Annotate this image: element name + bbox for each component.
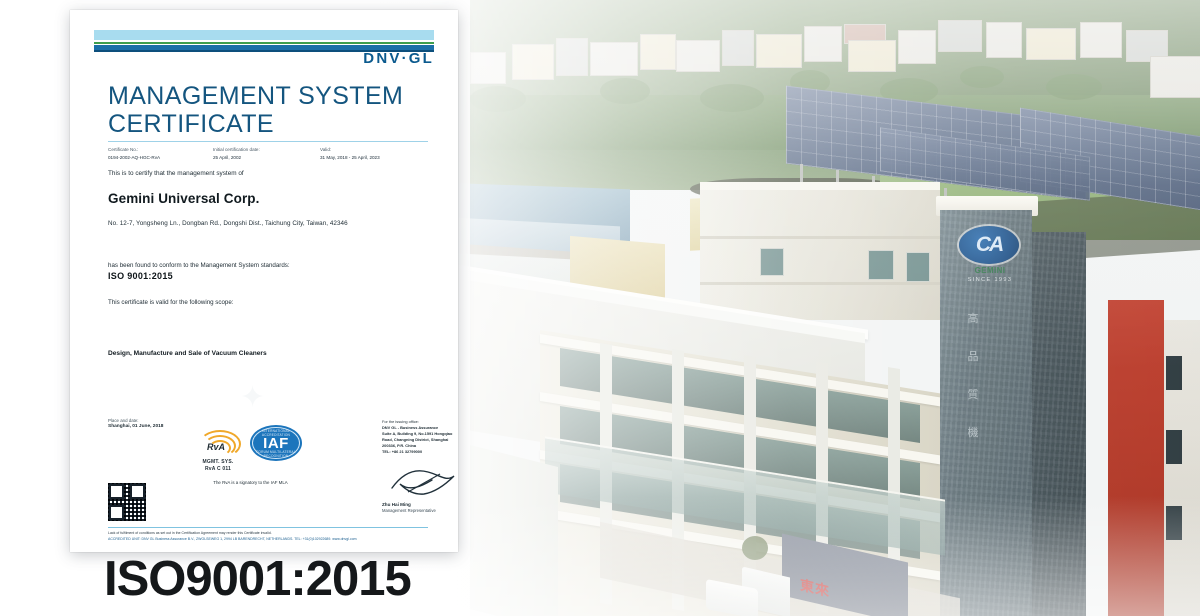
title-rule [108,141,428,142]
certificate-document[interactable]: DNV·GL MANAGEMENT SYSTEM CERTIFICATE Cer… [70,10,458,552]
footer-rule [108,527,428,528]
meta-valid: Valid: 31 May, 2018 - 25 April, 2023 [320,146,380,162]
rva-text-line2: RvA C 011 [188,466,248,472]
meta-value: 0194-2002-AQ-HGC-RvA [108,154,160,162]
screenshot-stage: CA GEMINI SINCE 1993 高 品 質 機 [0,0,1200,616]
place-date-label: Place and date: [108,418,139,423]
meta-certificate-no: Certificate No.: 0194-2002-AQ-HGC-RvA [108,146,160,162]
signatory-role: Management Representative [382,508,436,513]
header-band-light [94,30,434,40]
certificate-title: MANAGEMENT SYSTEM CERTIFICATE [108,82,438,138]
page-caption: ISO9001:2015 [104,551,411,607]
rva-accreditation-mark: RvA MGMT. SYS. RvA C 011 [188,428,248,473]
scope-lead-text: This certificate is valid for the follow… [108,299,234,306]
standard-name: ISO 9001:2015 [108,271,173,281]
meta-label: Certificate No.: [108,146,160,154]
meta-label: Valid: [320,146,380,154]
header-band-green [94,42,434,44]
certificate-title-line2: CERTIFICATE [108,110,438,138]
watermark: ✦ [240,380,265,415]
iaf-mla-note: The RvA is a signatory to the IAF MLA [188,480,313,485]
conformance-text: has been found to conform to the Managem… [108,262,290,269]
issuing-office-tel: TEL: +86 21 32799000 [382,449,422,454]
certify-lead-text: This is to certify that the management s… [108,170,244,177]
meta-value: 25 April, 2002 [213,154,260,162]
signature-icon [388,462,458,502]
place-date-value: Shanghai, 01 June, 2018 [108,424,163,429]
dnv-gl-logo: DNV·GL [363,50,434,67]
rva-text-line1: MGMT. SYS. [188,459,248,465]
company-name: Gemini Universal Corp. [108,191,260,206]
signatory-name: Zhu Hai Ming [382,502,411,507]
meta-label: Initial certification date: [213,146,260,154]
issuing-office-address1: Suite A, Building 9, No.1591 Hongqiao [382,431,452,436]
footer-disclaimer: Lack of fulfilment of conditions as set … [108,531,272,535]
scope-text: Design, Manufacture and Sale of Vacuum C… [108,350,267,357]
issuing-office-address2: Road, Changning District, Shanghai [382,437,448,442]
iaf-bottom-text: FORUM MULTILATERAL RECOGNITION [250,450,302,458]
iaf-logo: INTERNATIONAL ACCREDITATION IAF FORUM MU… [250,425,302,461]
meta-value: 31 May, 2018 - 25 April, 2023 [320,154,380,162]
issuing-office-address3: 200336, P.R. China [382,443,416,448]
rva-logo-icon: RvA [195,428,241,458]
company-address: No. 12-7, Yongsheng Ln., Dongban Rd., Do… [108,220,348,227]
certificate-inner: DNV·GL MANAGEMENT SYSTEM CERTIFICATE Cer… [70,10,458,552]
footer-accredited-unit: ACCREDITED UNIT: DNV GL Business Assuran… [108,537,357,541]
qr-code[interactable] [108,483,146,521]
iaf-oval-icon: INTERNATIONAL ACCREDITATION IAF FORUM MU… [250,425,302,461]
issuing-office-block: For the issuing office: DNV GL - Busines… [382,419,458,455]
meta-initial-date: Initial certification date: 25 April, 20… [213,146,260,162]
issuing-office-org: DNV GL - Business Assurance [382,425,438,430]
certificate-title-line1: MANAGEMENT SYSTEM [108,82,438,110]
